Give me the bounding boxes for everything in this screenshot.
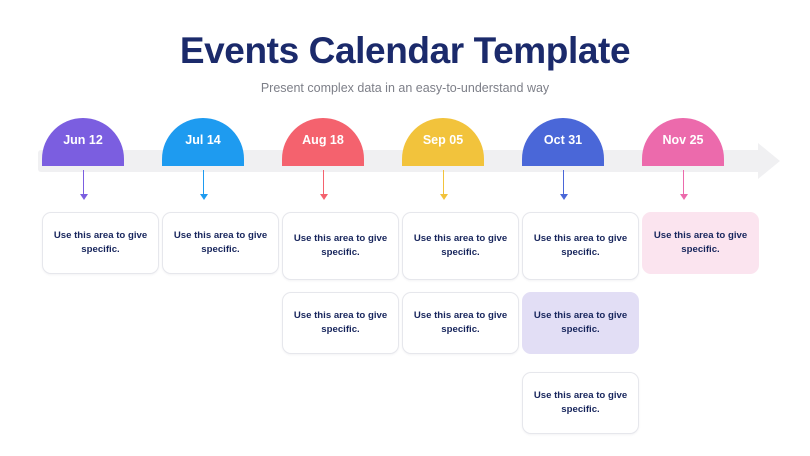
info-card[interactable]: Use this area to give specific. (642, 212, 759, 274)
timeline-marker-nov-25[interactable]: Nov 25 (642, 118, 724, 166)
timeline-marker-label: Jul 14 (185, 133, 220, 147)
connector-arrow-nov-25 (683, 170, 684, 200)
page-title: Events Calendar Template (0, 0, 810, 72)
connector-arrowhead-icon (80, 194, 88, 200)
cards-area: Use this area to give specific.Use this … (0, 206, 810, 436)
timeline-marker-jul-14[interactable]: Jul 14 (162, 118, 244, 166)
connector-arrow-aug-18 (323, 170, 324, 200)
timeline-marker-sep-05[interactable]: Sep 05 (402, 118, 484, 166)
info-card-text: Use this area to give specific. (532, 232, 629, 259)
info-card-text: Use this area to give specific. (532, 389, 629, 416)
timeline-marker-oct-31[interactable]: Oct 31 (522, 118, 604, 166)
info-card[interactable]: Use this area to give specific. (522, 292, 639, 354)
connector-arrowhead-icon (200, 194, 208, 200)
timeline: Jun 12Jul 14Aug 18Sep 05Oct 31Nov 25 (0, 118, 810, 178)
info-card-text: Use this area to give specific. (532, 309, 629, 336)
connector-arrowhead-icon (320, 194, 328, 200)
connector-arrowhead-icon (680, 194, 688, 200)
info-card-text: Use this area to give specific. (292, 309, 389, 336)
info-card[interactable]: Use this area to give specific. (42, 212, 159, 274)
timeline-marker-aug-18[interactable]: Aug 18 (282, 118, 364, 166)
timeline-marker-label: Oct 31 (544, 133, 582, 147)
connector-arrowhead-icon (560, 194, 568, 200)
timeline-marker-label: Nov 25 (663, 133, 704, 147)
connector-arrow-jul-14 (203, 170, 204, 200)
info-card[interactable]: Use this area to give specific. (162, 212, 279, 274)
connector-stem (443, 170, 444, 195)
arrow-right-icon (758, 143, 780, 179)
connector-arrow-jun-12 (83, 170, 84, 200)
timeline-marker-jun-12[interactable]: Jun 12 (42, 118, 124, 166)
connector-stem (323, 170, 324, 195)
timeline-marker-label: Aug 18 (302, 133, 344, 147)
info-card-text: Use this area to give specific. (52, 229, 149, 256)
connector-arrowhead-icon (440, 194, 448, 200)
timeline-marker-label: Sep 05 (423, 133, 463, 147)
info-card[interactable]: Use this area to give specific. (402, 292, 519, 354)
connector-stem (203, 170, 204, 195)
info-card[interactable]: Use this area to give specific. (282, 292, 399, 354)
header: Events Calendar Template Present complex… (0, 0, 810, 95)
info-card-text: Use this area to give specific. (292, 232, 389, 259)
connector-arrow-oct-31 (563, 170, 564, 200)
page-subtitle: Present complex data in an easy-to-under… (0, 72, 810, 95)
connector-arrow-sep-05 (443, 170, 444, 200)
info-card[interactable]: Use this area to give specific. (402, 212, 519, 280)
info-card-text: Use this area to give specific. (652, 229, 749, 256)
timeline-marker-label: Jun 12 (63, 133, 103, 147)
connector-stem (683, 170, 684, 195)
info-card[interactable]: Use this area to give specific. (522, 212, 639, 280)
info-card-text: Use this area to give specific. (412, 232, 509, 259)
connector-stem (563, 170, 564, 195)
connector-stem (83, 170, 84, 195)
info-card[interactable]: Use this area to give specific. (522, 372, 639, 434)
info-card-text: Use this area to give specific. (172, 229, 269, 256)
info-card[interactable]: Use this area to give specific. (282, 212, 399, 280)
info-card-text: Use this area to give specific. (412, 309, 509, 336)
